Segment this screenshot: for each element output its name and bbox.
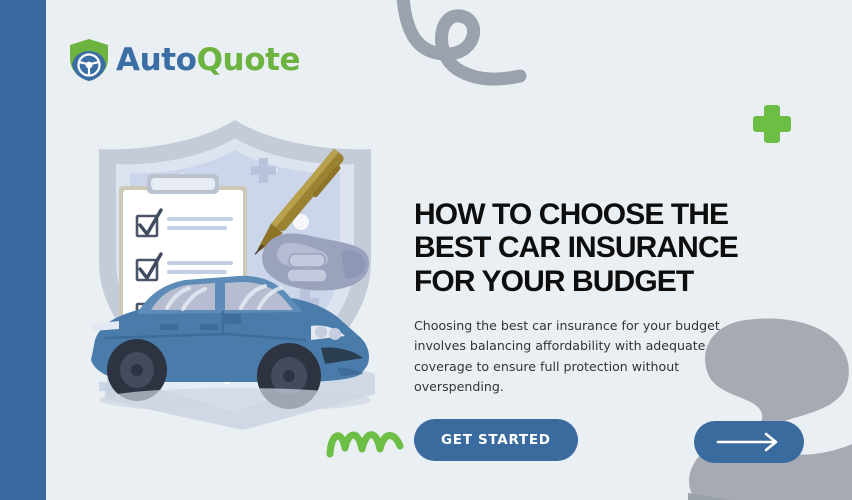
subtitle-text: Choosing the best car insurance for your…: [414, 316, 740, 398]
next-arrow-button[interactable]: [694, 421, 804, 463]
logo-text-primary: Auto: [116, 42, 197, 78]
shield-steering-wheel-icon: [68, 38, 110, 82]
left-accent-bar: [0, 0, 46, 500]
get-started-button[interactable]: GET STARTED: [414, 419, 578, 461]
green-plus-decoration: [748, 100, 796, 148]
arrow-right-icon: [716, 432, 782, 452]
logo-text-secondary: Quote: [197, 42, 301, 78]
page-title: HOW TO CHOOSE THE BEST CAR INSURANCE FOR…: [414, 198, 744, 298]
hero-banner: AutoQuote: [0, 0, 852, 500]
content-column: HOW TO CHOOSE THE BEST CAR INSURANCE FOR…: [414, 198, 744, 461]
car-insurance-shield-illustration: [75, 112, 395, 432]
curl-squiggle-decoration: [372, 0, 542, 114]
logo[interactable]: AutoQuote: [68, 38, 300, 82]
